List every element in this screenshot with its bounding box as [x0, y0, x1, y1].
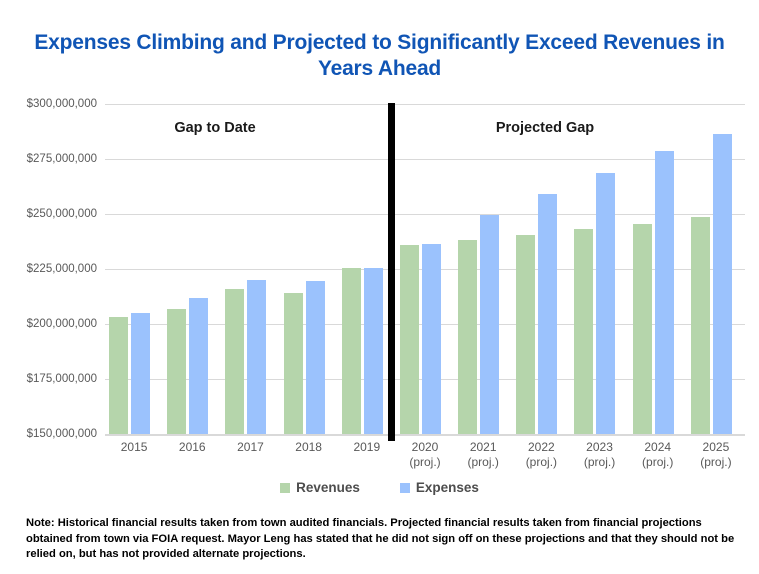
y-axis-tick-label: $275,000,000 — [27, 153, 97, 165]
bar-revenues-2022[interactable] — [516, 235, 535, 434]
bar-expenses-2022[interactable] — [538, 194, 557, 434]
bar-expenses-2019[interactable] — [364, 268, 383, 434]
slide-canvas: Expenses Climbing and Projected to Signi… — [0, 0, 759, 574]
legend-label: Revenues — [296, 480, 360, 495]
bar-expenses-2018[interactable] — [306, 281, 325, 434]
bar-revenues-2024[interactable] — [633, 224, 652, 434]
bar-group — [454, 104, 512, 434]
bar-expenses-2025[interactable] — [713, 134, 732, 434]
x-axis-tick-sublabel: (proj.) — [455, 455, 511, 470]
y-axis-tick-label: $200,000,000 — [27, 318, 97, 330]
x-axis-tick-label: 2018 — [281, 440, 337, 455]
legend-item-expenses[interactable]: Expenses — [400, 480, 479, 495]
x-axis-tick-label: 2016 — [164, 440, 220, 455]
y-axis-tick-label: $175,000,000 — [27, 373, 97, 385]
bar-expenses-2016[interactable] — [189, 298, 208, 434]
chart-plot-area: $300,000,000$275,000,000$250,000,000$225… — [105, 104, 745, 434]
bar-group — [221, 104, 279, 434]
x-axis-tick-label: 2015 — [106, 440, 162, 455]
bar-revenues-2015[interactable] — [109, 317, 128, 434]
bar-expenses-2015[interactable] — [131, 313, 150, 434]
x-axis-tick-sublabel: (proj.) — [397, 455, 453, 470]
bar-expenses-2021[interactable] — [480, 215, 499, 434]
bar-group — [105, 104, 163, 434]
x-axis-tick-sublabel: (proj.) — [513, 455, 569, 470]
page-title: Expenses Climbing and Projected to Signi… — [28, 30, 731, 82]
chart-x-axis: 201520162017201820192020(proj.)2021(proj… — [105, 440, 745, 478]
bar-group — [687, 104, 745, 434]
legend-label: Expenses — [416, 480, 479, 495]
bar-revenues-2020[interactable] — [400, 245, 419, 434]
bar-group — [280, 104, 338, 434]
x-axis-tick-label: 2024(proj.) — [630, 440, 686, 470]
bar-group — [512, 104, 570, 434]
bar-group — [629, 104, 687, 434]
x-axis-tick-label: 2017 — [222, 440, 278, 455]
bar-group — [396, 104, 454, 434]
y-axis-tick-label: $150,000,000 — [27, 428, 97, 440]
legend-swatch-revenues-icon — [280, 483, 290, 493]
projection-divider — [388, 103, 395, 441]
legend-swatch-expenses-icon — [400, 483, 410, 493]
x-axis-tick-label: 2022(proj.) — [513, 440, 569, 470]
x-axis-tick-label: 2019 — [339, 440, 395, 455]
bar-revenues-2017[interactable] — [225, 289, 244, 434]
chart-baseline — [105, 434, 745, 436]
y-axis-tick-label: $225,000,000 — [27, 263, 97, 275]
y-axis-tick-label: $300,000,000 — [27, 98, 97, 110]
bar-revenues-2019[interactable] — [342, 268, 361, 434]
bar-group — [570, 104, 628, 434]
bar-revenues-2018[interactable] — [284, 293, 303, 434]
footnote-text: Note: Historical financial results taken… — [26, 516, 738, 563]
y-axis-tick-label: $250,000,000 — [27, 208, 97, 220]
x-axis-tick-label: 2023(proj.) — [572, 440, 628, 470]
x-axis-tick-label: 2020(proj.) — [397, 440, 453, 470]
legend-item-revenues[interactable]: Revenues — [280, 480, 360, 495]
bar-expenses-2023[interactable] — [596, 173, 615, 434]
bar-revenues-2025[interactable] — [691, 217, 710, 434]
x-axis-tick-sublabel: (proj.) — [688, 455, 744, 470]
x-axis-tick-sublabel: (proj.) — [630, 455, 686, 470]
bar-expenses-2020[interactable] — [422, 244, 441, 434]
x-axis-tick-label: 2025(proj.) — [688, 440, 744, 470]
bar-expenses-2017[interactable] — [247, 280, 266, 434]
bar-expenses-2024[interactable] — [655, 151, 674, 434]
bar-group — [163, 104, 221, 434]
chart-legend: RevenuesExpenses — [0, 480, 759, 495]
x-axis-tick-sublabel: (proj.) — [572, 455, 628, 470]
bar-revenues-2023[interactable] — [574, 229, 593, 434]
x-axis-tick-label: 2021(proj.) — [455, 440, 511, 470]
bar-revenues-2021[interactable] — [458, 240, 477, 434]
bar-revenues-2016[interactable] — [167, 309, 186, 434]
